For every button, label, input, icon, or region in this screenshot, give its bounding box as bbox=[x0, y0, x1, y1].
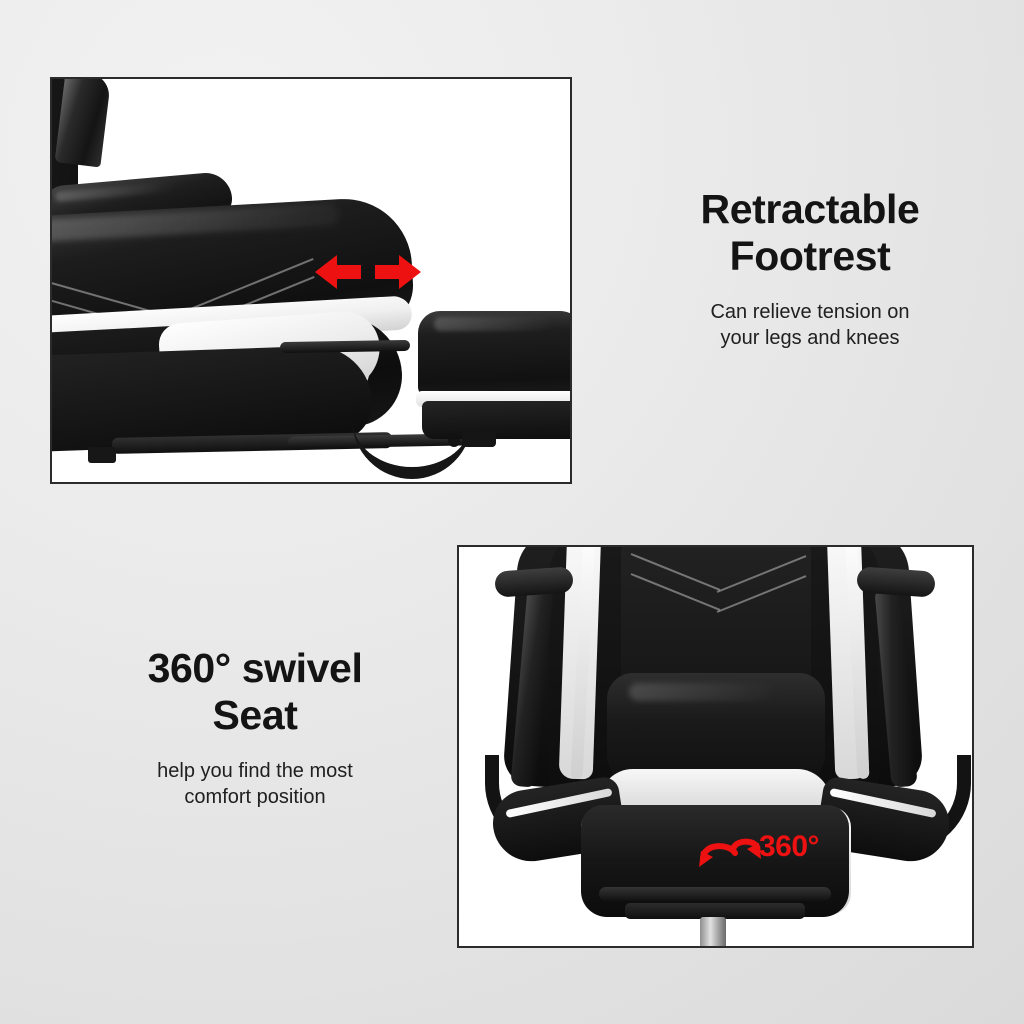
stitch-chevron bbox=[717, 575, 807, 613]
photo-retractable-footrest bbox=[50, 77, 572, 484]
armrest-pad-right bbox=[856, 566, 936, 597]
double-arrow-horizontal-icon bbox=[315, 251, 421, 293]
subtext-line-1: help you find the most bbox=[55, 758, 455, 784]
headline-line-2: Footrest bbox=[600, 233, 1020, 280]
headline-line-1: 360° swivel bbox=[148, 645, 363, 691]
photo-swivel-seat: 360° bbox=[457, 545, 974, 948]
subtext-line-2: your legs and knees bbox=[600, 325, 1020, 351]
feature-text-swivel-seat: 360° swivelSeat help you find the mostco… bbox=[55, 645, 455, 810]
headline-line-2: Seat bbox=[55, 692, 455, 739]
stitch-chevron bbox=[631, 573, 721, 611]
chair-base-arm bbox=[50, 482, 226, 484]
headline-line-1: Retractable bbox=[701, 186, 920, 232]
retracted-footrest-rail bbox=[599, 887, 831, 901]
gas-lift-chrome-shaft bbox=[700, 917, 726, 948]
product-feature-page: RetractableFootrest Can relieve tension … bbox=[0, 0, 1024, 1024]
footrest-pad bbox=[418, 311, 572, 397]
armrest-pad-left bbox=[494, 566, 574, 597]
swivel-scene: 360° bbox=[459, 547, 972, 946]
subtext-swivel-seat: help you find the mostcomfort position bbox=[55, 758, 455, 810]
subtext-line-1: Can relieve tension on bbox=[600, 299, 1020, 325]
subtext-line-2: comfort position bbox=[55, 784, 455, 810]
subtext-retractable-footrest: Can relieve tension onyour legs and knee… bbox=[600, 299, 1020, 351]
stitch-chevron bbox=[717, 555, 807, 593]
headline-retractable-footrest: RetractableFootrest bbox=[600, 186, 1020, 279]
footrest-lower-panel bbox=[422, 401, 572, 439]
chair-backrest-post bbox=[55, 77, 112, 167]
footrest-clip bbox=[462, 431, 496, 447]
seat-mechanism-tab bbox=[88, 447, 116, 463]
footrest-support-tube-upper bbox=[280, 340, 410, 353]
feature-text-retractable-footrest: RetractableFootrest Can relieve tension … bbox=[600, 186, 1020, 351]
stitch-chevron bbox=[631, 553, 721, 591]
footrest-scene bbox=[52, 79, 570, 482]
rotation-label: 360° bbox=[759, 830, 819, 864]
headline-swivel-seat: 360° swivelSeat bbox=[55, 645, 455, 738]
